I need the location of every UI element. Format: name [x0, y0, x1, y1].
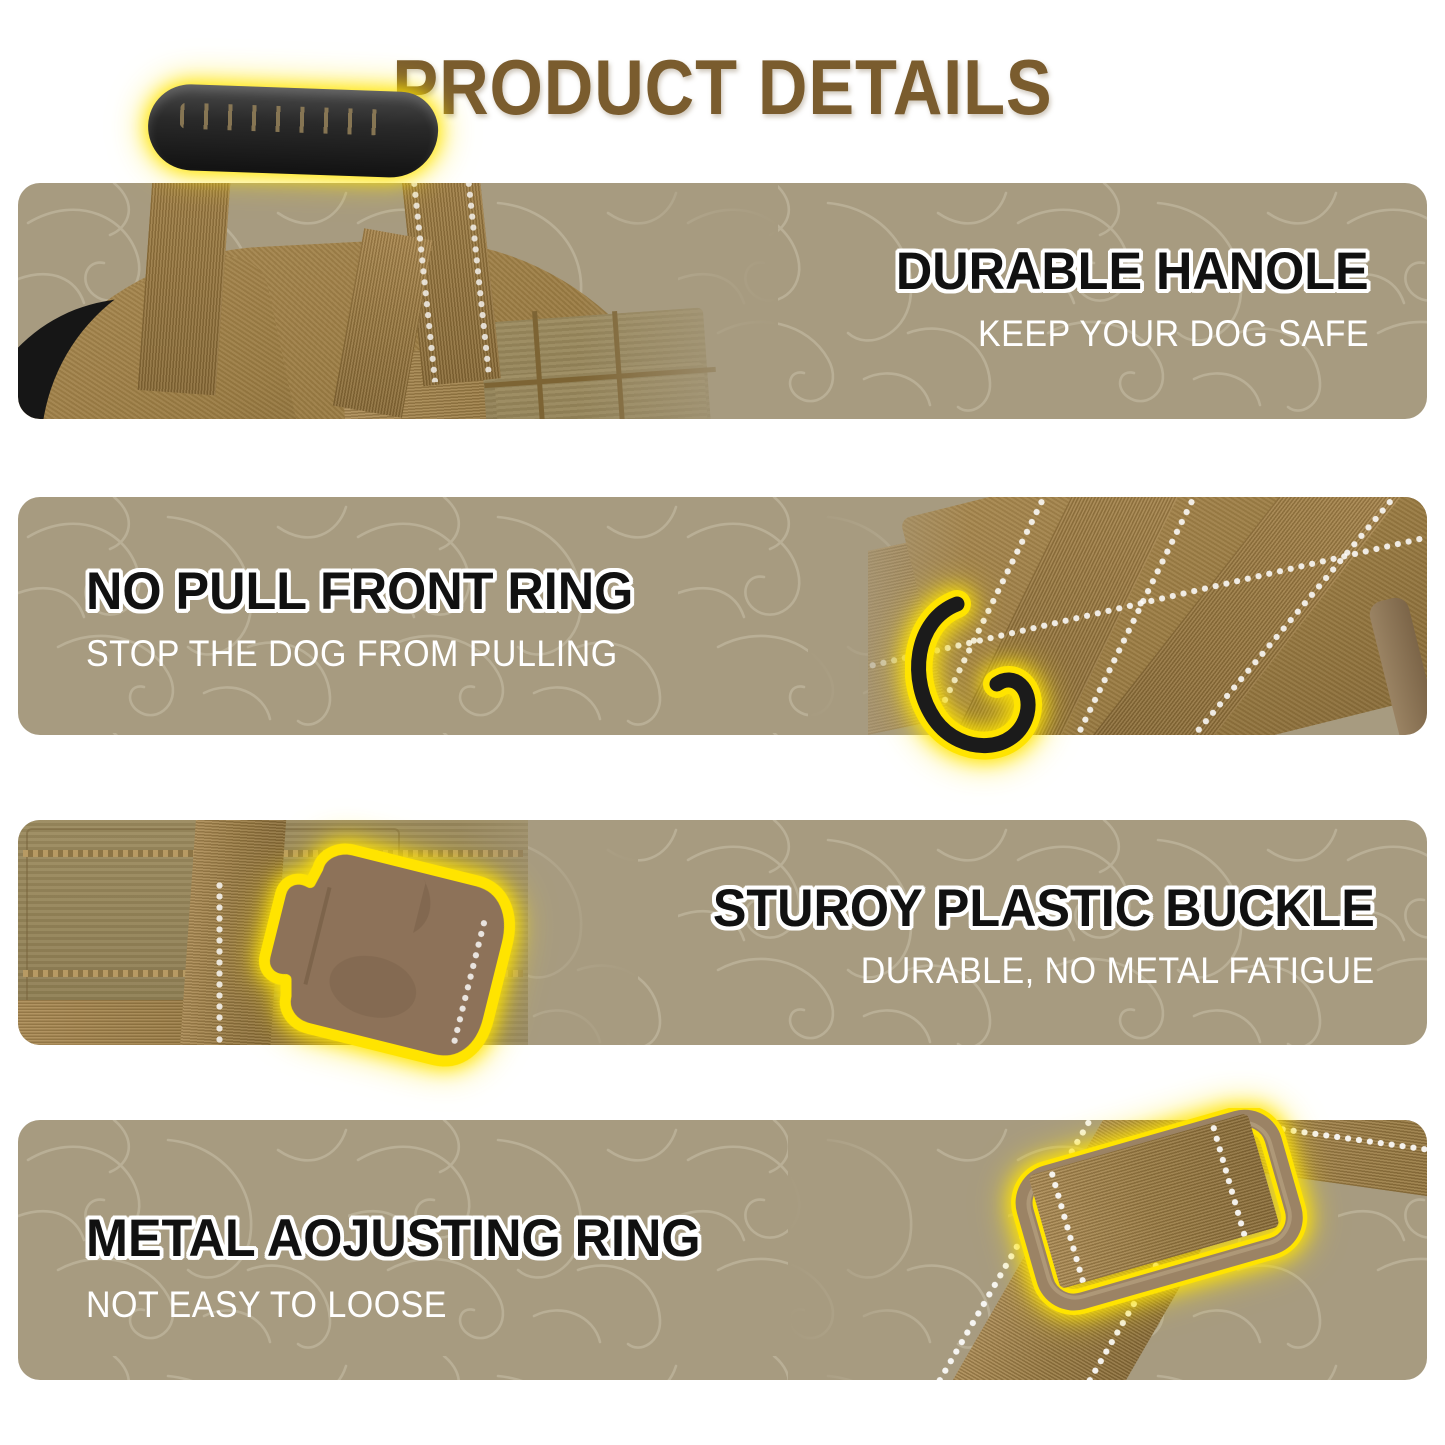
panel-no-pull-front-ring: NO PULL FRONT RING STOP THE DOG FROM PUL… [18, 497, 1427, 735]
handle-photo-overflow [120, 78, 480, 238]
infographic-canvas: PRODUCT DETAILS [0, 0, 1445, 1445]
front-d-ring [905, 588, 1045, 768]
panel-2-headline: NO PULL FRONT RING [86, 561, 633, 622]
panel-2-subline: STOP THE DOG FROM PULLING [86, 633, 618, 675]
panel-3-headline: STUROY PLASTIC BUCKLE [713, 878, 1375, 939]
panel-4-headline: METAL AOJUSTING RING [86, 1208, 700, 1269]
panel-3-subline: DURABLE, NO METAL FATIGUE [861, 950, 1375, 992]
panel-1-headline: DURABLE HANOLE [896, 241, 1369, 302]
panel-4-subline: NOT EASY TO LOOSE [86, 1284, 447, 1326]
panel-1-subline: KEEP YOUR DOG SAFE [978, 313, 1369, 355]
side-release-buckle [196, 798, 536, 1098]
